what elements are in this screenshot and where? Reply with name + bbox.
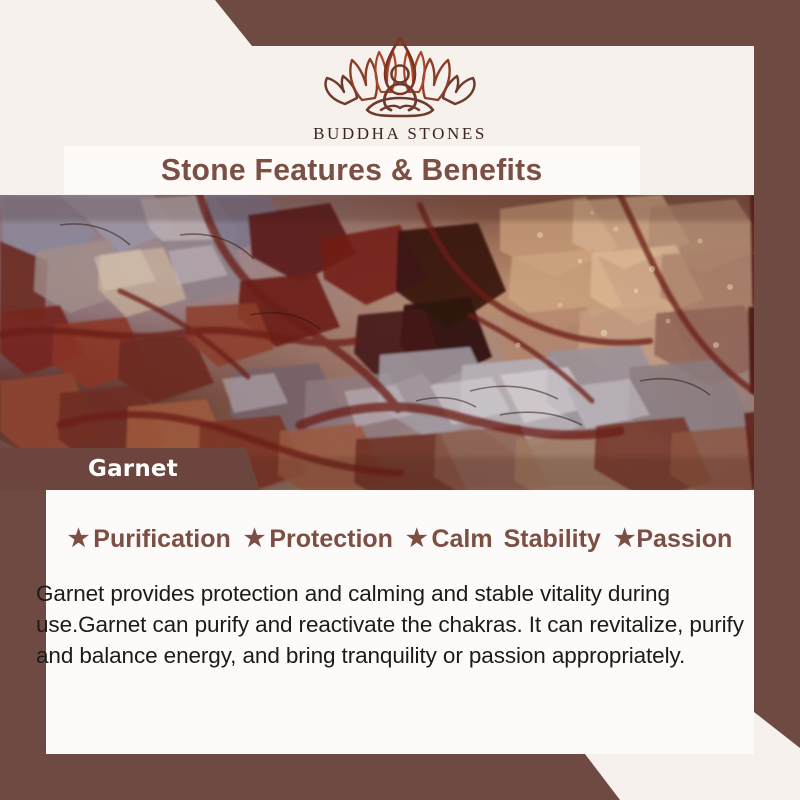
lotus-meditation-icon [315,30,485,123]
stone-description: Garnet provides protection and calming a… [36,578,766,671]
feature-list: ★Purification ★Protection ★Calm Stabilit… [0,525,800,554]
star-icon: ★ [614,527,636,551]
feature-item-passion: ★Passion [614,525,732,554]
stone-name-tag: Garnet [0,448,260,490]
title-banner: Stone Features & Benefits [64,146,640,194]
star-icon: ★ [68,527,90,551]
page-title: Stone Features & Benefits [161,152,543,188]
brand-logo-block: BUDDHA STONES [0,46,800,146]
garnet-crystal-cluster-photo [0,195,800,490]
star-icon: ★ [406,527,428,551]
feature-item-protection: ★Protection [244,525,393,554]
feature-label: Stability [504,525,601,554]
stone-name-label: Garnet [88,456,178,482]
feature-label: Calm [431,525,492,554]
frame-bottom-band [0,754,800,800]
feature-item-calm: ★Calm [406,525,493,554]
feature-item-purification: ★Purification [68,525,231,554]
feature-label: Passion [636,525,732,554]
star-icon: ★ [244,527,266,551]
feature-label: Purification [93,525,231,554]
stone-info-poster: BUDDHA STONES Stone Features & Benefits [0,0,800,800]
feature-item-stability: Stability [504,525,601,554]
feature-label: Protection [269,525,393,554]
brand-name: BUDDHA STONES [313,124,487,144]
